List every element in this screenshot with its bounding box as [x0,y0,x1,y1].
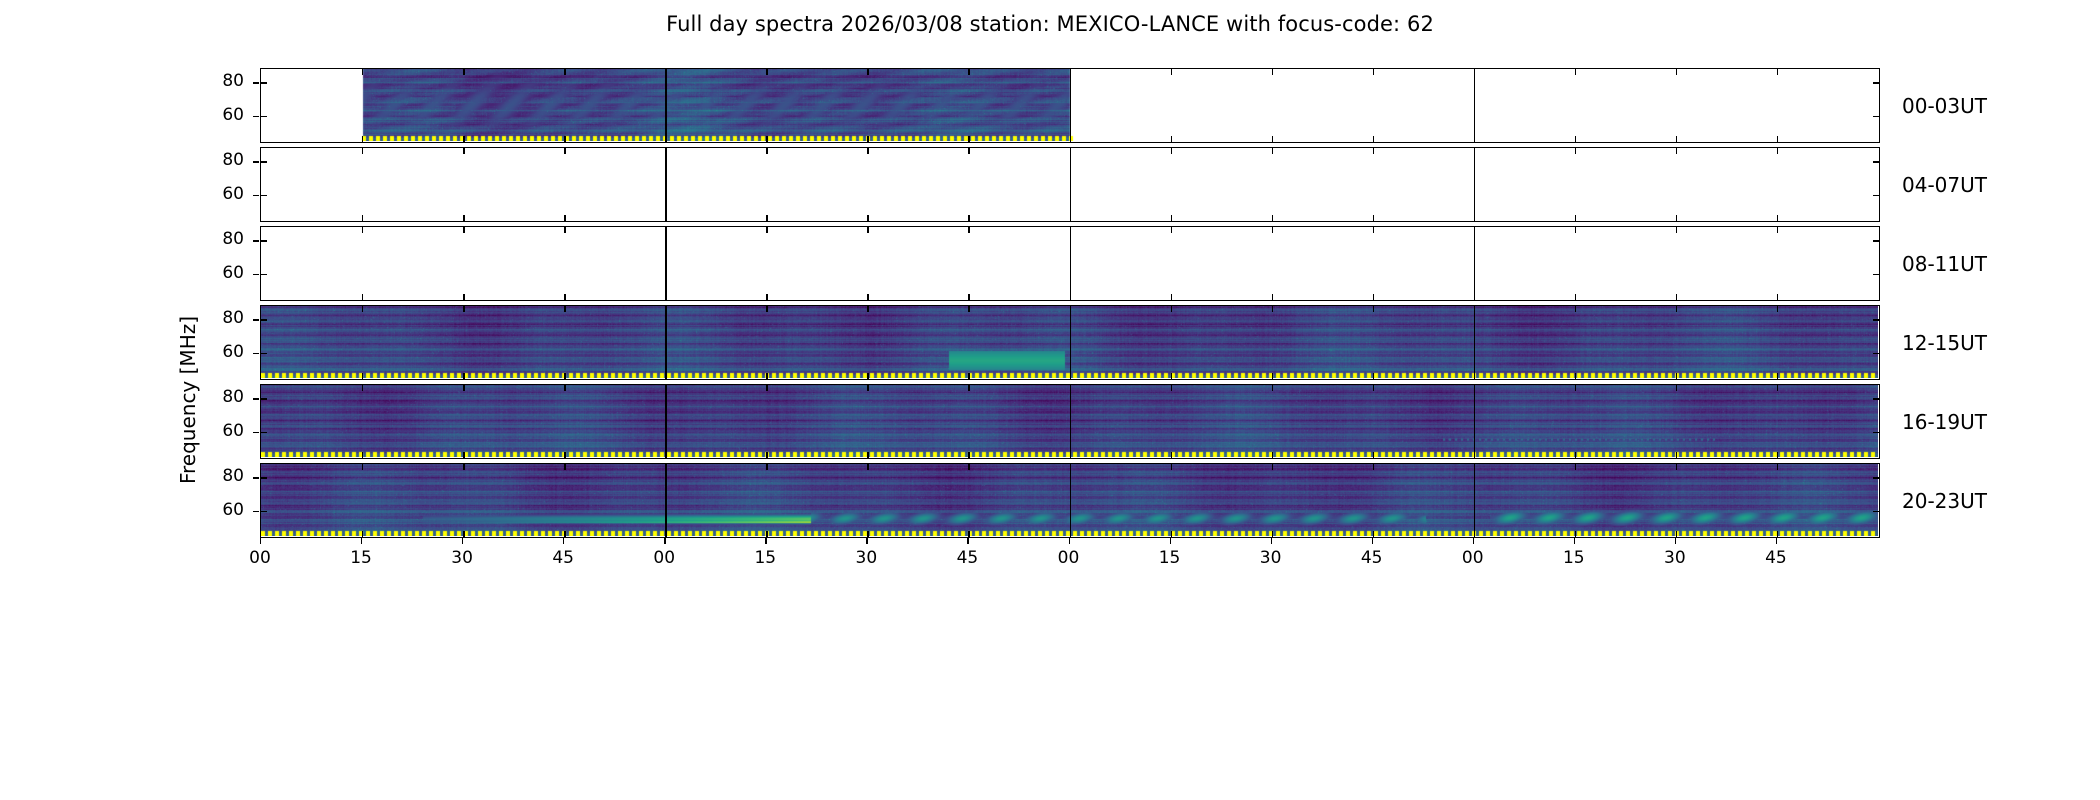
x-tick-mark [1171,385,1172,391]
y-tick-mark [1873,398,1879,399]
x-tick-mark [463,136,464,142]
x-tick-mark [362,148,363,154]
x-tick-mark [1575,227,1576,233]
hour-gridline [1474,306,1476,379]
x-tick-mark [766,385,767,391]
y-tick-mark [1873,240,1879,241]
x-tick-mark [1777,215,1778,221]
x-tick-mark [1575,294,1576,300]
x-tick-mark [1777,385,1778,391]
x-tick-mark [564,464,565,470]
y-tick-label: 60 [202,421,244,441]
x-tick-mark [1777,306,1778,312]
x-tick-mark [362,69,363,75]
x-tick-mark [564,215,565,221]
x-tick-mark [362,294,363,300]
x-tick-mark [1171,531,1172,537]
y-tick-mark [261,398,267,399]
y-tick-label: 80 [202,466,244,486]
x-tick-mark [1170,538,1171,544]
y-tick-mark [261,274,267,275]
figure-title: Full day spectra 2026/03/08 station: MEX… [0,12,2100,36]
spectrogram-panel-20-23ut[interactable] [260,463,1880,538]
x-tick-mark [362,373,363,379]
x-tick-mark [766,136,767,142]
x-tick-mark [1373,452,1374,458]
x-tick-label: 30 [1241,548,1301,568]
x-tick-mark [361,538,362,544]
x-tick-mark [1272,306,1273,312]
y-tick-mark [261,82,267,83]
y-tick-mark [1873,161,1879,162]
x-tick-mark [1676,373,1677,379]
x-tick-mark [1171,215,1172,221]
y-tick-mark [261,116,267,117]
y-tick-mark [253,511,259,512]
y-tick-mark [1873,274,1879,275]
x-tick-mark [1171,306,1172,312]
x-tick-mark [766,452,767,458]
x-tick-mark [867,373,868,379]
x-tick-mark [968,294,969,300]
spectrogram-panel-00-03ut[interactable] [260,68,1880,143]
x-tick-mark [968,452,969,458]
x-tick-label: 00 [1443,548,1503,568]
y-tick-mark [1873,82,1879,83]
x-tick-mark [1575,69,1576,75]
y-tick-mark [253,398,259,399]
x-tick-label: 30 [836,548,896,568]
x-tick-mark [1777,227,1778,233]
x-tick-mark [1272,531,1273,537]
x-tick-mark [1575,452,1576,458]
x-tick-mark [1676,306,1677,312]
x-tick-mark [564,148,565,154]
x-tick-mark [766,531,767,537]
x-tick-label: 00 [1039,548,1099,568]
x-tick-mark [766,227,767,233]
x-tick-mark [1575,385,1576,391]
hour-gridline [665,227,667,300]
x-tick-mark [564,385,565,391]
x-tick-mark [766,215,767,221]
x-tick-label: 00 [634,548,694,568]
x-tick-mark [1575,306,1576,312]
y-tick-mark [253,353,259,354]
row-label-12-15ut: 12-15UT [1902,331,1987,355]
x-tick-label: 45 [533,548,593,568]
row-label-08-11ut: 08-11UT [1902,252,1987,276]
x-tick-mark [1373,148,1374,154]
x-tick-mark [564,531,565,537]
spectrogram-panel-16-19ut[interactable] [260,384,1880,459]
hour-gridline [1474,385,1476,458]
row-label-20-23ut: 20-23UT [1902,489,1987,513]
x-tick-mark [463,531,464,537]
x-tick-mark [1373,464,1374,470]
x-tick-mark [1676,385,1677,391]
x-tick-label: 45 [937,548,997,568]
row-label-16-19ut: 16-19UT [1902,410,1987,434]
x-tick-mark [1171,136,1172,142]
x-tick-mark [463,148,464,154]
hour-gridline [1070,385,1072,458]
x-tick-mark [463,373,464,379]
x-tick-mark [1373,373,1374,379]
x-tick-label: 15 [1140,548,1200,568]
x-tick-mark [1171,294,1172,300]
y-tick-mark [1873,511,1879,512]
x-tick-mark [1272,136,1273,142]
row-label-00-03ut: 00-03UT [1902,94,1987,118]
x-tick-mark [1272,464,1273,470]
x-tick-mark [766,306,767,312]
x-tick-mark [1575,464,1576,470]
x-tick-label: 15 [735,548,795,568]
x-tick-mark [463,227,464,233]
x-tick-mark [1171,373,1172,379]
x-tick-mark [1272,452,1273,458]
x-tick-label: 15 [1544,548,1604,568]
x-tick-label: 45 [1746,548,1806,568]
spectrogram-panel-04-07ut[interactable] [260,147,1880,222]
x-tick-mark [1272,385,1273,391]
y-tick-mark [253,82,259,83]
x-tick-mark [1776,538,1777,544]
x-tick-mark [765,538,766,544]
x-tick-mark [1574,538,1575,544]
x-tick-mark [1777,452,1778,458]
y-tick-mark [253,319,259,320]
x-tick-mark [1676,148,1677,154]
x-tick-mark [1777,373,1778,379]
y-tick-label: 60 [202,263,244,283]
x-tick-mark [1575,215,1576,221]
x-tick-mark [1171,452,1172,458]
hour-gridline [665,385,667,458]
x-tick-mark [1575,136,1576,142]
x-tick-mark [766,464,767,470]
x-tick-mark [463,69,464,75]
y-tick-mark [1873,195,1879,196]
x-tick-mark [867,531,868,537]
x-tick-mark [362,136,363,142]
x-tick-label: 30 [432,548,492,568]
x-tick-mark [1473,538,1474,544]
x-tick-mark [968,464,969,470]
x-tick-mark [463,464,464,470]
x-tick-mark [1272,215,1273,221]
x-tick-mark [1272,373,1273,379]
y-tick-label: 80 [202,387,244,407]
y-tick-mark [261,240,267,241]
x-tick-mark [564,294,565,300]
x-tick-mark [260,538,261,544]
y-axis-label: Frequency [MHz] [176,250,200,550]
x-tick-mark [867,385,868,391]
x-tick-mark [1171,227,1172,233]
hour-gridline [1070,69,1072,142]
x-tick-mark [362,306,363,312]
x-tick-mark [1171,148,1172,154]
y-tick-label: 80 [202,308,244,328]
y-tick-mark [253,477,259,478]
x-tick-mark [1676,136,1677,142]
hour-gridline [1474,227,1476,300]
hour-gridline [1474,69,1476,142]
x-tick-mark [1171,69,1172,75]
x-tick-mark [1777,294,1778,300]
x-tick-mark [1373,385,1374,391]
x-tick-label: 15 [331,548,391,568]
x-tick-mark [1676,294,1677,300]
x-tick-mark [867,148,868,154]
y-tick-label: 60 [202,500,244,520]
x-tick-mark [463,294,464,300]
x-tick-mark [1372,538,1373,544]
x-tick-mark [563,538,564,544]
x-tick-mark [1676,215,1677,221]
y-tick-mark [1873,319,1879,320]
x-tick-mark [766,148,767,154]
y-tick-mark [253,432,259,433]
x-tick-mark [1373,227,1374,233]
x-tick-mark [867,227,868,233]
x-tick-mark [1777,464,1778,470]
y-tick-mark [1873,353,1879,354]
x-tick-mark [766,294,767,300]
hour-gridline [665,464,667,537]
y-tick-mark [261,477,267,478]
y-tick-mark [1873,116,1879,117]
x-tick-mark [1272,148,1273,154]
x-tick-mark [1777,69,1778,75]
x-tick-mark [1676,464,1677,470]
x-tick-mark [1675,538,1676,544]
x-tick-label: 00 [230,548,290,568]
y-tick-mark [261,353,267,354]
x-tick-mark [463,385,464,391]
x-tick-mark [968,227,969,233]
x-tick-mark [1373,531,1374,537]
y-tick-mark [253,274,259,275]
x-tick-mark [463,306,464,312]
x-tick-mark [867,452,868,458]
x-tick-mark [1373,69,1374,75]
y-tick-mark [1873,432,1879,433]
y-tick-label: 60 [202,342,244,362]
x-tick-mark [564,306,565,312]
x-tick-mark [1373,136,1374,142]
x-tick-mark [1575,373,1576,379]
x-tick-mark [968,531,969,537]
x-tick-mark [867,215,868,221]
x-tick-mark [1777,531,1778,537]
x-tick-mark [564,227,565,233]
hour-gridline [665,306,667,379]
y-tick-label: 80 [202,150,244,170]
x-tick-mark [564,373,565,379]
row-label-04-07ut: 04-07UT [1902,173,1987,197]
x-tick-mark [968,373,969,379]
y-tick-mark [253,195,259,196]
x-tick-mark [1676,452,1677,458]
x-tick-mark [1676,69,1677,75]
x-tick-mark [1272,294,1273,300]
x-tick-mark [1171,464,1172,470]
x-tick-mark [362,227,363,233]
x-tick-mark [866,538,867,544]
x-tick-mark [968,306,969,312]
y-tick-mark [1873,477,1879,478]
x-tick-mark [968,69,969,75]
x-tick-mark [766,69,767,75]
hour-gridline [1070,464,1072,537]
x-tick-mark [968,385,969,391]
x-tick-mark [1575,148,1576,154]
hour-gridline [1070,148,1072,221]
y-tick-label: 60 [202,184,244,204]
x-tick-mark [1777,148,1778,154]
x-tick-mark [968,148,969,154]
x-tick-mark [867,294,868,300]
y-tick-mark [253,116,259,117]
x-tick-mark [766,373,767,379]
spectrogram-panel-08-11ut[interactable] [260,226,1880,301]
x-tick-mark [362,385,363,391]
x-tick-mark [564,136,565,142]
x-tick-mark [967,538,968,544]
x-tick-mark [1373,306,1374,312]
x-tick-mark [462,538,463,544]
spectrogram-figure: Full day spectra 2026/03/08 station: MEX… [0,0,2100,800]
x-tick-mark [1272,227,1273,233]
y-tick-mark [261,319,267,320]
y-tick-mark [261,511,267,512]
y-tick-mark [261,432,267,433]
x-tick-label: 30 [1645,548,1705,568]
y-tick-mark [253,240,259,241]
x-tick-mark [1373,215,1374,221]
hour-gridline [665,69,667,142]
hour-gridline [1474,464,1476,537]
x-tick-mark [362,215,363,221]
x-tick-mark [867,464,868,470]
x-tick-mark [867,136,868,142]
x-tick-mark [362,452,363,458]
x-tick-mark [1777,136,1778,142]
x-tick-mark [1272,69,1273,75]
x-tick-mark [362,531,363,537]
x-tick-mark [867,306,868,312]
x-tick-mark [968,136,969,142]
y-tick-label: 80 [202,71,244,91]
x-tick-mark [1373,294,1374,300]
x-tick-mark [1271,538,1272,544]
x-tick-mark [564,452,565,458]
x-tick-mark [1676,531,1677,537]
x-tick-label: 45 [1342,548,1402,568]
x-tick-mark [968,215,969,221]
x-tick-mark [463,215,464,221]
hour-gridline [1070,306,1072,379]
hour-gridline [1070,227,1072,300]
y-tick-mark [261,161,267,162]
y-tick-mark [253,161,259,162]
x-tick-mark [463,452,464,458]
hour-gridline [665,148,667,221]
x-tick-mark [362,464,363,470]
x-tick-mark [564,69,565,75]
y-tick-label: 60 [202,105,244,125]
y-tick-label: 80 [202,229,244,249]
x-tick-mark [1069,538,1070,544]
spectrogram-panel-12-15ut[interactable] [260,305,1880,380]
x-tick-mark [664,538,665,544]
hour-gridline [1474,148,1476,221]
x-tick-mark [1676,227,1677,233]
x-tick-mark [867,69,868,75]
x-tick-mark [1575,531,1576,537]
y-tick-mark [261,195,267,196]
